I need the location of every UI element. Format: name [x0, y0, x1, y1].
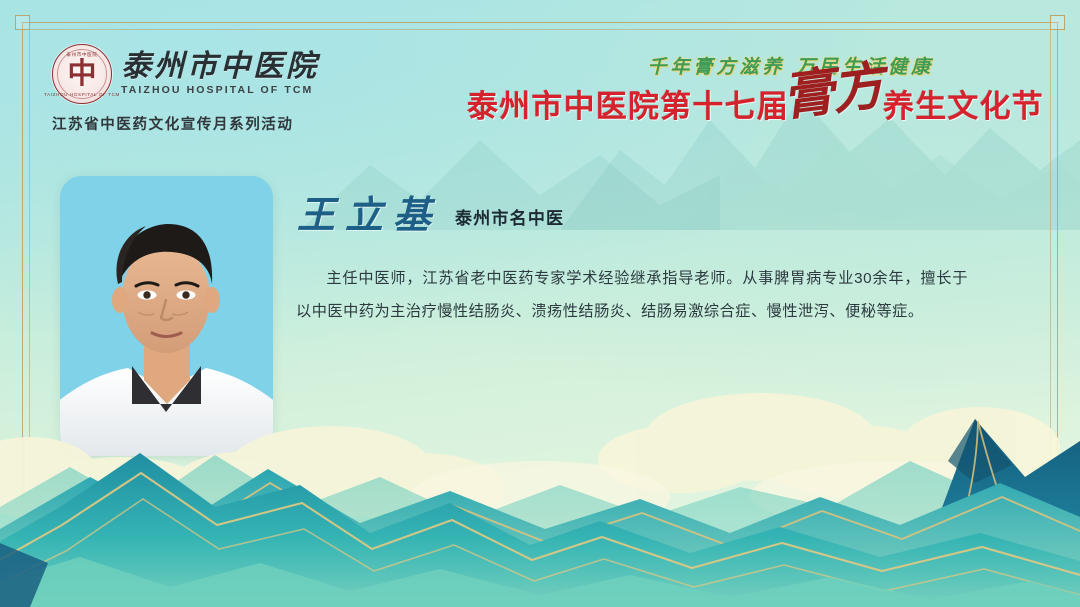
campaign-line: 江苏省中医药文化宣传月系列活动	[52, 113, 319, 134]
hospital-name-group: 泰州市中医院 TAIZHOU HOSPITAL OF TCM	[121, 52, 319, 97]
hospital-name-cn: 泰州市中医院	[121, 52, 319, 83]
doctor-honor-title: 泰州市名中医	[455, 204, 564, 234]
frame-corner-bottom-left	[15, 577, 30, 592]
doctor-heading: 王立基 泰州市名中医	[297, 196, 564, 234]
hospital-seal-icon: 泰州市中医院 中 TAIZHOU HOSPITAL OF TCM	[52, 44, 112, 104]
doctor-name: 王立基	[297, 196, 441, 234]
seal-center-char: 中	[67, 59, 96, 88]
hospital-name-en: TAIZHOU HOSPITAL OF TCM	[121, 84, 319, 96]
poster-canvas: 泰州市中医院 中 TAIZHOU HOSPITAL OF TCM 泰州市中医院 …	[0, 0, 1080, 607]
seal-ring-top-text: 泰州市中医院	[66, 52, 97, 58]
hospital-logo-block: 泰州市中医院 中 TAIZHOU HOSPITAL OF TCM 泰州市中医院 …	[52, 44, 319, 134]
festival-title-part2: 养生文化节	[883, 92, 1044, 123]
doctor-portrait	[60, 176, 273, 456]
doctor-portrait-image	[60, 176, 273, 456]
festival-title-block: 千年膏方滋养 万民生活健康 泰州市中医院第十七届 膏方 养生文化节	[467, 52, 1044, 123]
frame-corner-bottom-right	[1050, 577, 1065, 592]
festival-main-title: 泰州市中医院第十七届 膏方 养生文化节	[467, 80, 1044, 123]
seal-ring-bottom-text: TAIZHOU HOSPITAL OF TCM	[44, 92, 120, 97]
frame-corner-top-left	[15, 15, 30, 30]
doctor-description: 主任中医师，江苏省老中医药专家学术经验继承指导老师。从事脾胃病专业30余年，擅长…	[296, 262, 968, 328]
festival-title-part1: 泰州市中医院第十七届	[467, 92, 789, 123]
logo-row: 泰州市中医院 中 TAIZHOU HOSPITAL OF TCM 泰州市中医院 …	[52, 44, 319, 104]
frame-corner-top-right	[1050, 15, 1065, 30]
festival-title-brush: 膏方	[780, 65, 884, 119]
